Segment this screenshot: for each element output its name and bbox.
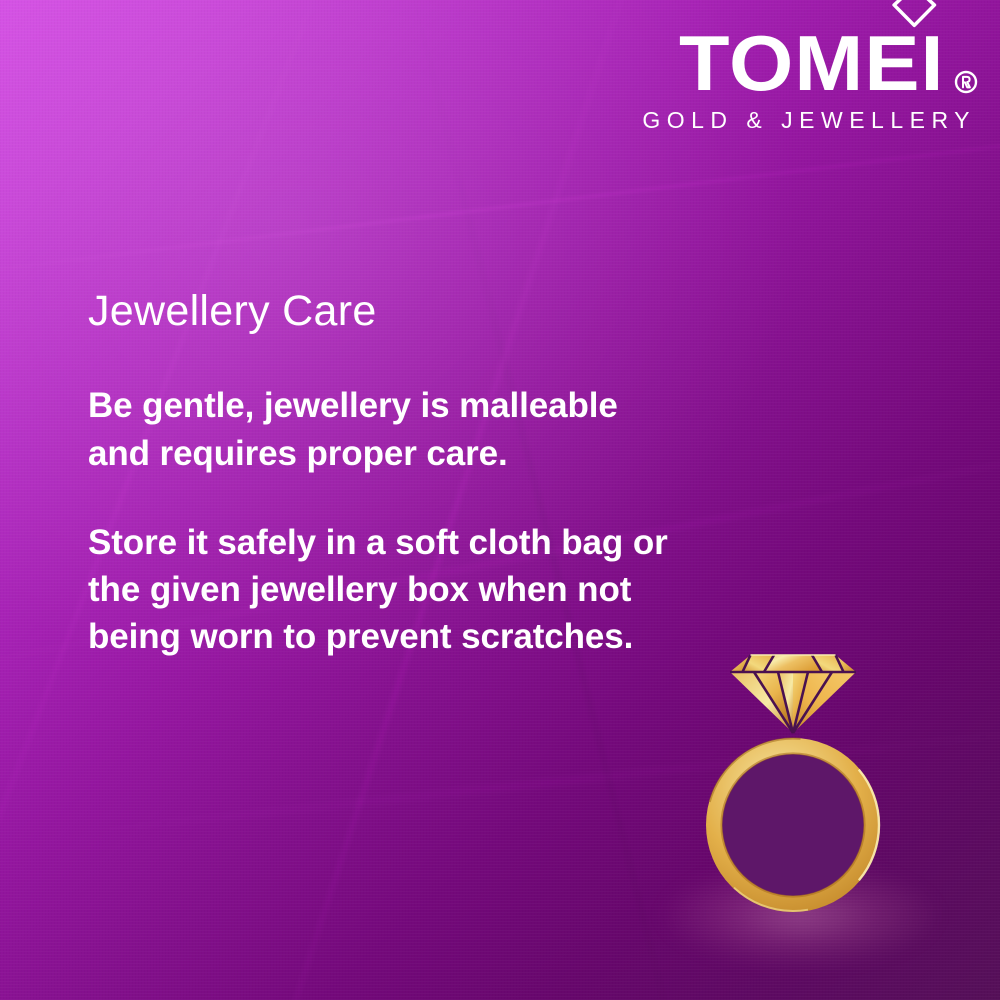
- diamond-ring-illustration: [688, 632, 898, 922]
- tomei-logo: TOMEI GOLD & JEWELLERY: [642, 28, 978, 134]
- diamond-ring-svg: [688, 632, 898, 922]
- brand-tagline: GOLD & JEWELLERY: [642, 107, 978, 134]
- registered-trademark-icon: [954, 70, 978, 94]
- page-title: Jewellery Care: [88, 288, 678, 335]
- brand-wordmark-text: TOMEI: [679, 19, 945, 107]
- brand-wordmark: TOMEI: [679, 28, 945, 100]
- body-paragraph-1: Be gentle, jewellery is malleable and re…: [88, 382, 678, 477]
- diamond-gem-icon: [730, 655, 856, 733]
- diamond-outline-icon: [886, 0, 943, 28]
- facet-line-1: [0, 121, 1000, 282]
- body-paragraph-2: Store it safely in a soft cloth bag or t…: [88, 519, 678, 661]
- logo-wordmark-row: TOMEI: [642, 28, 978, 100]
- poster-canvas: TOMEI GOLD & JEWELLERY Jewellery Care Be…: [0, 0, 1000, 1000]
- ring-band-icon: [706, 738, 880, 912]
- copy-block: Jewellery Care Be gentle, jewellery is m…: [88, 288, 678, 661]
